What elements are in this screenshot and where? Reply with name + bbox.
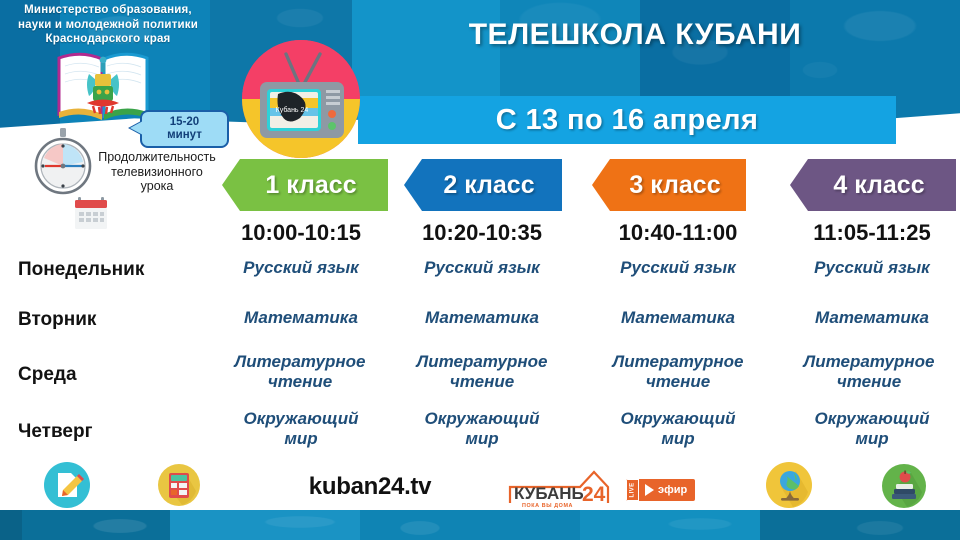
ministry-line-1: Министерство образования, xyxy=(2,3,214,18)
day-label-tuesday: Вторник xyxy=(18,309,198,331)
duration-bubble-text: 15-20 минут xyxy=(167,116,202,142)
live-badge: LIVE xyxy=(626,479,639,501)
day-label-wednesday: Среда xyxy=(18,364,198,386)
kuban24-logo[interactable]: КУБАНЬ 24 ПОКА ВЫ ДОМА xyxy=(508,469,616,509)
document-pencil-icon xyxy=(44,462,90,508)
duration-bubble: 15-20 минут xyxy=(140,110,229,148)
class-banner-label: 1 класс xyxy=(253,171,356,200)
ministry-line-3: Краснодарского края xyxy=(2,32,214,47)
class-banner-label: 2 класс xyxy=(431,171,534,200)
schedule-cell: Русский язык xyxy=(394,258,570,278)
class-banner-4[interactable]: 4 класс xyxy=(790,159,956,211)
class-banner-label: 4 класс xyxy=(821,171,924,200)
class-banner-1[interactable]: 1 класс xyxy=(222,159,388,211)
class-banner-2[interactable]: 2 класс xyxy=(404,159,562,211)
schedule-cell: Русский язык xyxy=(213,258,389,278)
lesson-times-row: 10:00-10:15 10:20-10:35 10:40-11:00 11:0… xyxy=(0,220,960,250)
books-apple-icon xyxy=(882,464,926,508)
poster-root: Министерство образования, науки и молоде… xyxy=(0,0,960,540)
svg-text:ПОКА ВЫ ДОМА: ПОКА ВЫ ДОМА xyxy=(522,503,573,509)
globe-icon xyxy=(766,462,812,508)
class-banner-label: 3 класс xyxy=(617,171,720,200)
lesson-time-1: 10:00-10:15 xyxy=(213,220,389,246)
site-url[interactable]: kuban24.tv xyxy=(290,473,450,501)
schedule-cell: Русский язык xyxy=(784,258,960,278)
schedule-cell: Окружающий мир xyxy=(784,409,960,449)
schedule-cell: Математика xyxy=(394,308,570,328)
live-label: LIVE xyxy=(630,483,636,498)
svg-text:Кубань 24: Кубань 24 xyxy=(276,106,309,114)
page-title: ТЕЛЕШКОЛА КУБАНИ xyxy=(355,18,915,52)
day-label-monday: Понедельник xyxy=(18,259,198,281)
schedule-cell: Математика xyxy=(784,308,960,328)
schedule-cell: Литературное чтение xyxy=(388,352,576,392)
schedule-cell: Русский язык xyxy=(590,258,766,278)
schedule-cell: Литературное чтение xyxy=(584,352,772,392)
play-icon xyxy=(645,484,654,496)
date-range-banner: С 13 по 16 апреля xyxy=(358,96,896,144)
ministry-caption: Министерство образования, науки и молоде… xyxy=(2,3,214,47)
lesson-time-4: 11:05-11:25 xyxy=(784,220,960,246)
schedule-cell: Математика xyxy=(213,308,389,328)
footer-map-texture xyxy=(0,510,960,540)
retro-tv-icon: Кубань 24 xyxy=(240,38,362,160)
lesson-time-3: 10:40-11:00 xyxy=(590,220,766,246)
live-broadcast-button[interactable]: LIVE эфир xyxy=(626,479,695,501)
svg-text:24: 24 xyxy=(582,483,606,506)
day-label-thursday: Четверг xyxy=(18,421,198,443)
footer-background xyxy=(0,510,960,540)
schedule-cell: Окружающий мир xyxy=(590,409,766,449)
schedule-cell: Литературное чтение xyxy=(205,352,395,392)
schedule-cell: Окружающий мир xyxy=(394,409,570,449)
coat-of-arms-icon xyxy=(55,46,151,124)
schedule-cell: Литературное чтение xyxy=(778,352,960,392)
calculator-icon xyxy=(158,464,200,506)
class-banner-3[interactable]: 3 класс xyxy=(592,159,746,211)
svg-text:КУБАНЬ: КУБАНЬ xyxy=(514,484,584,503)
efir-label: эфир xyxy=(658,484,695,496)
lesson-time-2: 10:20-10:35 xyxy=(394,220,570,246)
schedule-cell: Окружающий мир xyxy=(213,409,389,449)
date-range-text: С 13 по 16 апреля xyxy=(496,104,759,137)
schedule-cell: Математика xyxy=(590,308,766,328)
duration-caption: Продолжительность телевизионного урока xyxy=(82,150,232,194)
ministry-line-2: науки и молодежной политики xyxy=(2,18,214,33)
